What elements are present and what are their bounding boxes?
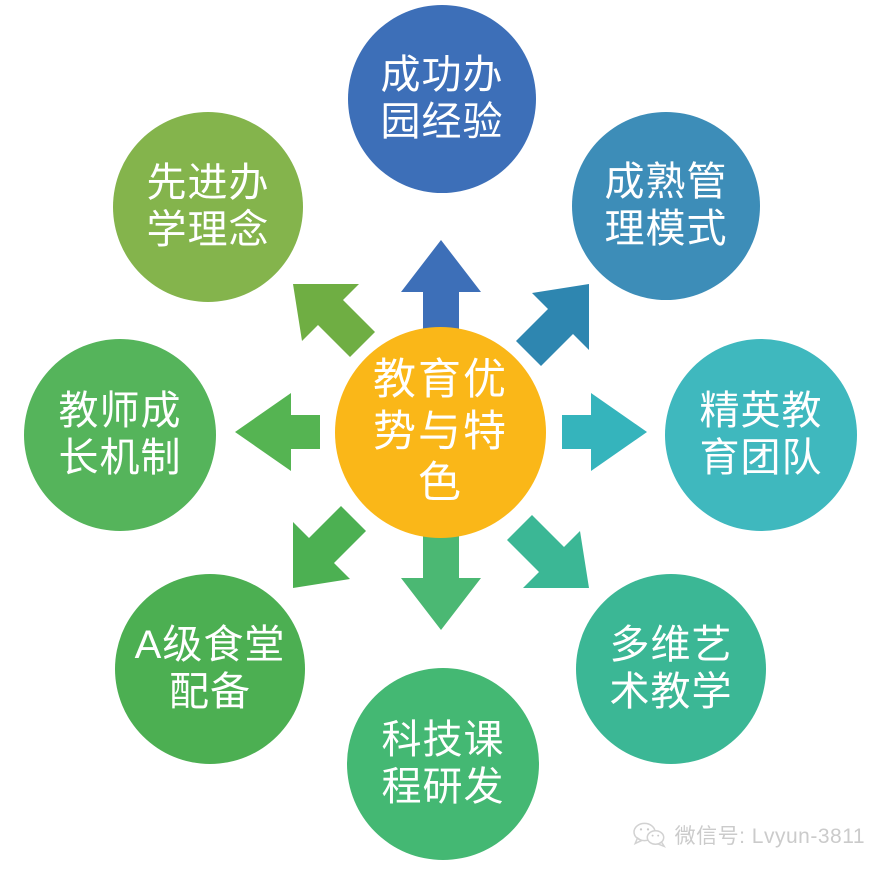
node-bottom-right-label: 多维艺术教学 <box>595 622 747 716</box>
node-top-label: 成功办园经验 <box>367 52 517 146</box>
watermark-text: 微信号: Lvyun-3811 <box>675 820 865 850</box>
arrow-up-right <box>516 284 589 366</box>
arrow-up-left <box>293 284 375 357</box>
node-top-right-label: 成熟管理模式 <box>591 159 741 253</box>
node-bottom-left-label: A级食堂配备 <box>134 622 286 716</box>
arrow-up <box>401 240 481 338</box>
node-bottom-right[interactable]: 多维艺术教学 <box>576 574 766 764</box>
node-bottom[interactable]: 科技课程研发 <box>347 668 539 860</box>
arrow-left <box>235 393 320 471</box>
node-left-label: 教师成长机制 <box>43 388 197 482</box>
node-bottom-left[interactable]: A级食堂配备 <box>115 574 305 764</box>
watermark: 微信号: Lvyun-3811 <box>632 820 865 850</box>
node-right[interactable]: 精英教育团队 <box>665 339 857 531</box>
node-right-label: 精英教育团队 <box>684 388 838 482</box>
node-top-left[interactable]: 先进办学理念 <box>113 112 303 302</box>
wechat-icon <box>632 821 666 849</box>
center-node[interactable]: 教育优势与特色 <box>335 327 546 538</box>
diagram-canvas: 教育优势与特色 成功办园经验 成熟管理模式 精英教育团队 多维艺术教学 科技课程… <box>0 0 883 872</box>
node-top[interactable]: 成功办园经验 <box>348 5 536 193</box>
arrow-down <box>401 532 481 630</box>
arrow-down-right <box>507 515 589 588</box>
center-node-label: 教育优势与特色 <box>365 355 517 510</box>
arrow-right <box>562 393 647 471</box>
node-bottom-label: 科技课程研发 <box>366 717 520 811</box>
node-top-left-label: 先进办学理念 <box>132 160 284 254</box>
node-left[interactable]: 教师成长机制 <box>24 339 216 531</box>
node-top-right[interactable]: 成熟管理模式 <box>572 112 760 300</box>
arrow-down-left <box>293 506 366 588</box>
